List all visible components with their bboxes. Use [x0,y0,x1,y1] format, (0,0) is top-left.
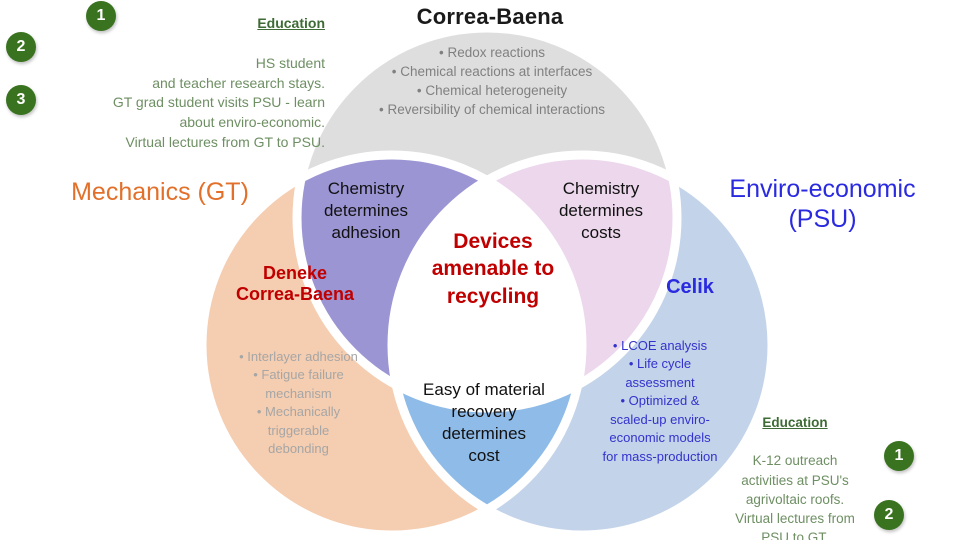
badge-number-2: 2 [6,32,36,62]
intersection-label-bottom: Easy of material recovery determines cos… [404,379,564,467]
circle-title-left: Deneke Correa-Baena [205,263,385,305]
circle-title-top: Correa-Baena [330,4,650,30]
education-top-heading: Education [257,15,325,31]
education-annotation-top: Education HS student and teacher researc… [40,0,325,153]
badge-number-3: 3 [6,85,36,115]
education-top-lines: HS student and teacher research stays. G… [113,55,325,151]
caption-mechanics-gt: Mechanics (GT) [35,178,285,208]
education-annotation-bottom: Education K-12 outreach activities at PS… [700,394,890,540]
intersection-label-center: Devices amenable to recycling [408,228,578,310]
badge-number-r1: 1 [884,441,914,471]
circle-bullets-top: • Redox reactions • Chemical reactions a… [318,43,666,120]
circle-title-right: Celik [615,276,765,300]
education-bottom-heading: Education [762,415,827,430]
education-bottom-lines: K-12 outreach activities at PSU's agrivo… [735,453,855,540]
venn-diagram-figure: Correa-Baena Deneke Correa-Baena Celik •… [0,0,960,540]
badge-number-1: 1 [86,1,116,31]
caption-enviro-economic-psu: Enviro-economic (PSU) [690,175,955,234]
circle-bullets-left: • Interlayer adhesion • Fatigue failure … [196,348,401,459]
badge-number-r2: 2 [874,500,904,530]
